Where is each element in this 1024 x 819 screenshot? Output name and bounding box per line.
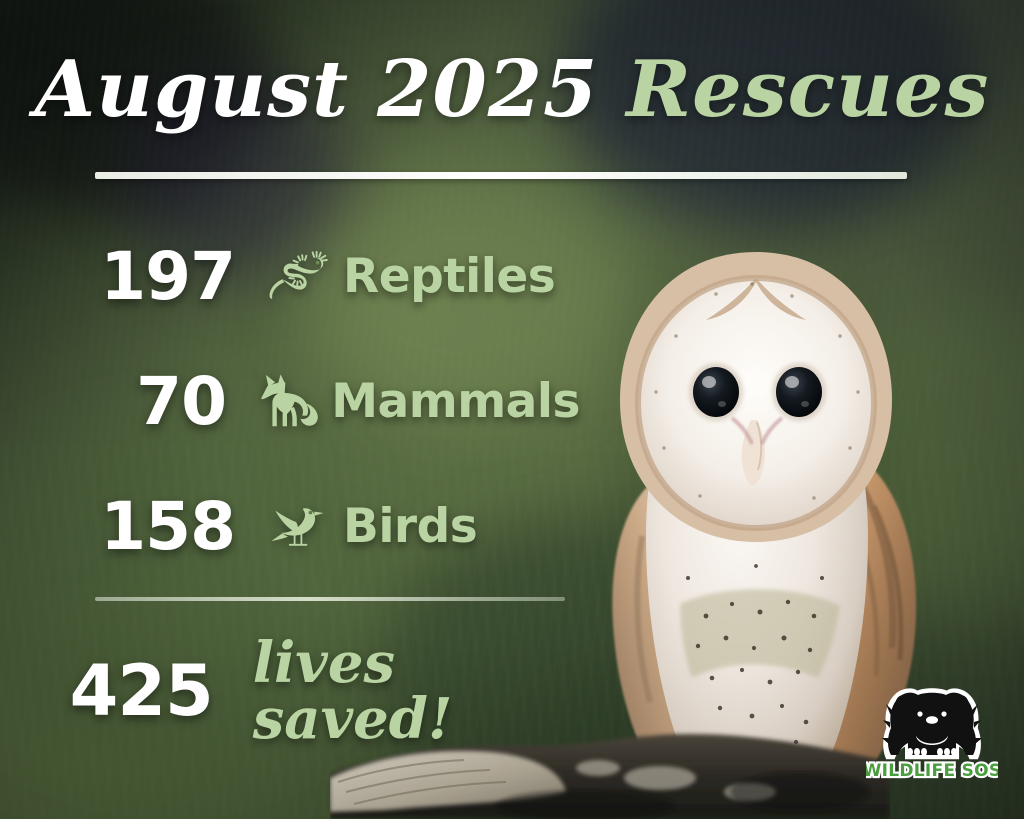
birds-count: 158 xyxy=(0,494,235,560)
logo-wordmark: WILDLIFE SOS xyxy=(866,761,998,781)
total-divider xyxy=(95,597,565,601)
stat-row-mammals: 70 xyxy=(0,339,580,464)
stat-row-reptiles: 197 xyxy=(0,214,580,339)
stat-list: 197 xyxy=(0,214,580,589)
wildlife-sos-logo: WILDLIFE SOS xyxy=(866,688,998,788)
title-keyword: Rescues xyxy=(626,44,989,135)
mammals-label: Mammals xyxy=(331,378,580,425)
stat-row-birds: 158 xyxy=(0,464,580,589)
reptiles-label: Reptiles xyxy=(343,253,555,300)
reptiles-count: 197 xyxy=(0,244,235,310)
rescue-stats-poster: August 2025Rescues 197 xyxy=(0,0,1024,819)
page-title: August 2025Rescues xyxy=(0,44,1024,135)
songbird-icon xyxy=(263,502,335,552)
gecko-icon xyxy=(263,250,335,304)
title-month-year: August 2025 xyxy=(35,44,599,135)
fox-icon xyxy=(254,374,323,430)
total-row: 425 lives saved! xyxy=(0,636,580,746)
mammals-count: 70 xyxy=(0,369,226,435)
birds-label: Birds xyxy=(343,503,477,550)
total-caption: lives saved! xyxy=(253,635,580,747)
title-divider xyxy=(95,172,907,179)
total-count: 425 xyxy=(0,656,213,726)
